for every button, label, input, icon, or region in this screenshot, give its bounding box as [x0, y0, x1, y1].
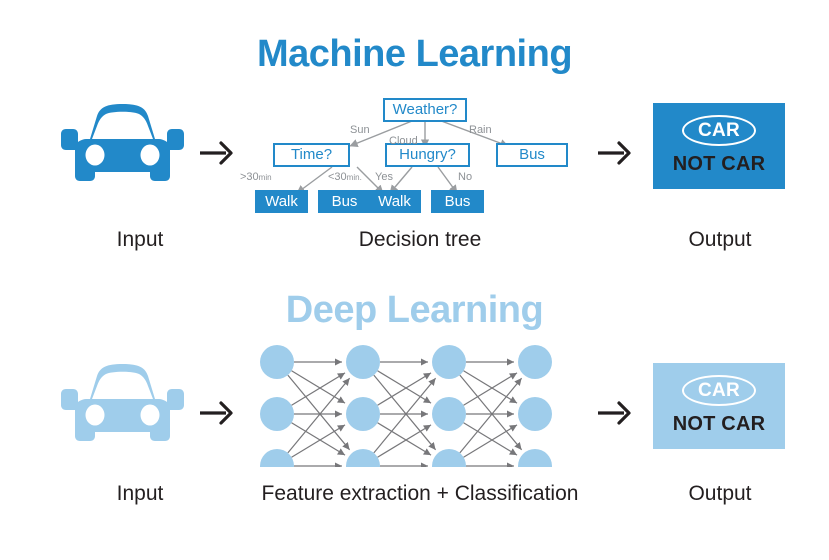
tree-edge-label-cloud: Cloud [389, 135, 418, 147]
tree-leaf-bus-1[interactable]: Bus [318, 190, 371, 213]
tree-edge-label-under30: <30min. [328, 171, 362, 183]
machine-learning-title: Machine Learning [0, 33, 829, 76]
output-card-ml: CAR NOT CAR [653, 103, 785, 189]
tree-edge-under30-sub: min. [347, 173, 362, 182]
tree-leaf-walk-2[interactable]: Walk [368, 190, 421, 213]
caption-output-dl: Output [620, 482, 820, 506]
not-car-label-ml: NOT CAR [653, 153, 785, 176]
caption-decision-tree: Decision tree [230, 228, 610, 252]
nn-node-l1-n2 [260, 397, 294, 431]
output-card-dl: CAR NOT CAR [653, 363, 785, 449]
car-badge-label-dl: CAR [682, 375, 756, 406]
nn-node-l2-n1 [346, 345, 380, 379]
diagram-canvas: Machine Learning [0, 0, 829, 560]
nn-node-l4-n3 [518, 449, 552, 467]
car-front-icon-dl [60, 358, 185, 453]
nn-node-l1-n1 [260, 345, 294, 379]
tree-edge-over30-sub: min [259, 173, 272, 182]
tree-edge-under30-main: <30 [328, 171, 347, 183]
tree-edge-label-rain: Rain [469, 124, 492, 136]
nn-node-l4-n2 [518, 397, 552, 431]
caption-input-ml: Input [40, 228, 240, 252]
not-car-label-dl: NOT CAR [653, 413, 785, 436]
tree-node-bus-rain[interactable]: Bus [496, 143, 568, 167]
tree-edge-label-yes: Yes [375, 171, 393, 183]
arrow-right-icon-ml-output [595, 136, 635, 170]
car-badge-dl: CAR [653, 375, 785, 411]
car-front-icon-ml [60, 98, 185, 193]
nn-node-l3-n1 [432, 345, 466, 379]
tree-leaf-bus-2[interactable]: Bus [431, 190, 484, 213]
car-badge-ml: CAR [653, 115, 785, 151]
tree-node-weather[interactable]: Weather? [383, 98, 467, 122]
nn-node-l4-n1 [518, 345, 552, 379]
tree-edge-label-over30: >30min [240, 171, 272, 183]
decision-tree: Weather? Time? Hungry? Bus Walk Bus Walk… [240, 95, 590, 225]
arrow-right-icon-ml-input [197, 136, 237, 170]
neural-network-diagram [258, 342, 568, 467]
tree-leaf-walk-1[interactable]: Walk [255, 190, 308, 213]
nn-node-l3-n2 [432, 397, 466, 431]
arrow-right-icon-dl-input [197, 396, 237, 430]
tree-edge-label-no: No [458, 171, 472, 183]
nn-node-l2-n2 [346, 397, 380, 431]
car-badge-label-ml: CAR [682, 115, 756, 146]
caption-output-ml: Output [620, 228, 820, 252]
tree-edge-label-sun: Sun [350, 124, 370, 136]
tree-node-time[interactable]: Time? [273, 143, 350, 167]
caption-feature-extraction: Feature extraction + Classification [205, 482, 635, 506]
tree-edge-over30-main: >30 [240, 171, 259, 183]
arrow-right-icon-dl-output [595, 396, 635, 430]
deep-learning-title: Deep Learning [0, 289, 829, 332]
